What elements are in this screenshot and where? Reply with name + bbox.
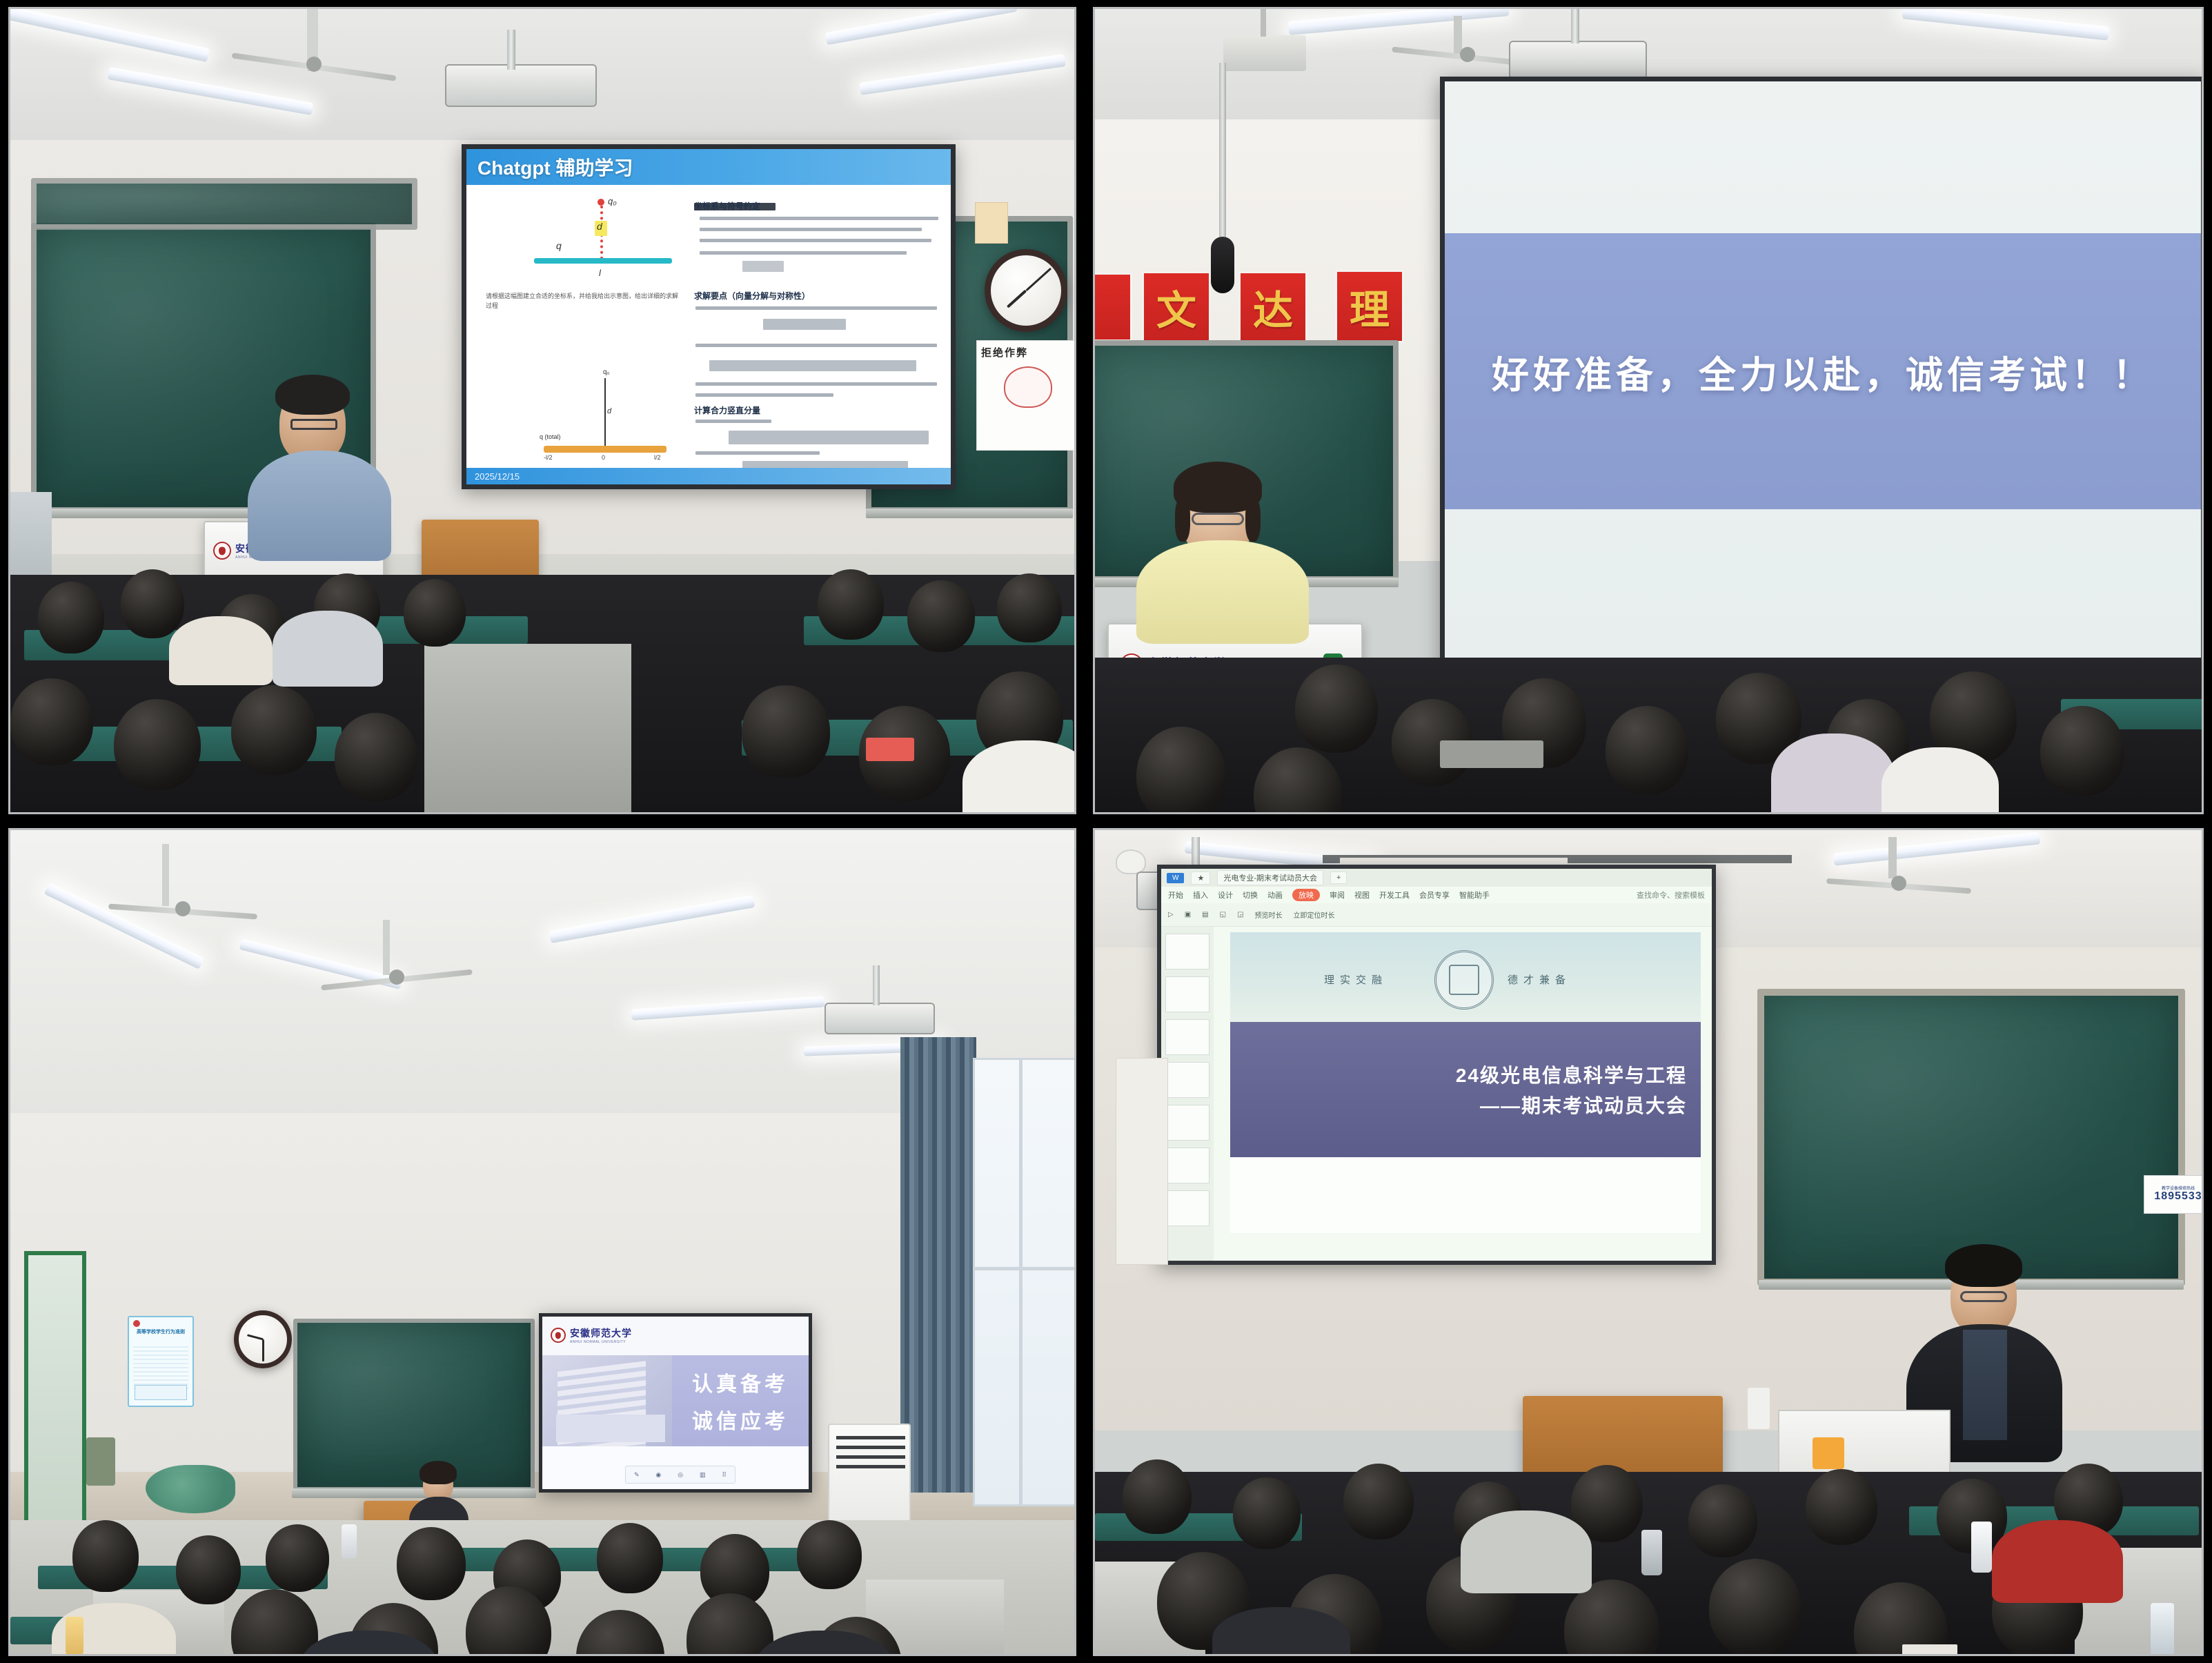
aisle-steps — [424, 644, 631, 814]
student-head — [1343, 1464, 1414, 1539]
slide-title: Chatgpt 辅助学习 — [466, 153, 633, 181]
slide-thumbnail[interactable] — [1165, 1019, 1209, 1055]
water-bottle — [2151, 1603, 2174, 1656]
thermos — [1641, 1530, 1662, 1575]
wps-new-tab-button[interactable]: + — [1330, 872, 1347, 884]
axis-tick-mid: 0 — [602, 454, 605, 461]
student-head — [121, 569, 184, 638]
projector — [445, 64, 597, 107]
photo-collage: 拒绝作弊 Chatgpt 辅助学习 q₀ d q l 请根据这幅图建立合适的坐标… — [0, 0, 2212, 1663]
grid-icon[interactable]: ⠿ — [722, 1471, 727, 1479]
student-conduct-poster: 高等学校学生行为准则 — [128, 1316, 194, 1407]
student-head — [266, 1524, 329, 1592]
rehearse-icon[interactable]: ◱ — [1220, 911, 1226, 918]
window — [973, 1058, 1076, 1506]
student-head — [10, 678, 93, 765]
lamp-rod — [1261, 9, 1266, 37]
blackboard — [293, 1319, 535, 1491]
wall-notice-board — [1116, 1058, 1168, 1265]
wall-note — [975, 202, 1008, 244]
wps-menu-item-8[interactable]: 开发工具 — [1379, 889, 1410, 901]
wall-mural — [146, 1465, 235, 1513]
student-head — [1688, 1484, 1757, 1557]
slide-thumbnail[interactable] — [1165, 1190, 1209, 1226]
slide-thumbnail[interactable] — [1165, 1105, 1209, 1141]
blackboard-upper-left — [31, 178, 417, 230]
poster-title: 高等学校学生行为准则 — [129, 1328, 192, 1335]
slide-heading-3: 计算合力竖直分量 — [694, 404, 760, 416]
wall-plant — [86, 1437, 115, 1486]
pen-icon[interactable]: ✎ — [634, 1471, 640, 1479]
slide-title-band: 24级光电信息科学与工程 ——期末考试动员大会 — [1230, 1022, 1701, 1157]
student-head — [597, 1523, 663, 1593]
play-from-start-icon[interactable]: ▷ — [1168, 911, 1174, 918]
wall-placard-2: 达 — [1238, 271, 1307, 343]
projection-screen-1: Chatgpt 辅助学习 q₀ d q l 请根据这幅图建立合适的坐标系，并给我… — [462, 144, 956, 489]
slogan-band: 好好准备，全力以赴，诚信考试！！ — [1445, 233, 2201, 509]
slide-thumbnail-pane[interactable] — [1161, 927, 1214, 1261]
student-head — [1709, 1559, 1801, 1656]
axis-vertical — [604, 378, 606, 447]
laptop — [1440, 740, 1543, 768]
wps-menu-item-0[interactable]: 开始 — [1168, 889, 1183, 901]
student-head — [907, 580, 975, 652]
slide-sky-banner: 理实交融 德才兼备 — [1230, 932, 1701, 1022]
slide-thumbnail[interactable] — [1165, 1062, 1209, 1098]
student-head — [397, 1527, 466, 1600]
projector-mount — [873, 965, 880, 1005]
wps-menu-item-5[interactable]: 放映 — [1292, 889, 1320, 901]
ceiling-fan — [314, 965, 480, 989]
slide-building-photo — [542, 1355, 672, 1446]
pointer-icon[interactable]: ◉ — [655, 1471, 661, 1479]
student-body-red-jacket — [1992, 1520, 2123, 1603]
student-body — [1771, 734, 1895, 814]
water-bottle — [1971, 1522, 1992, 1573]
projector-mount — [507, 30, 515, 70]
university-crest — [1434, 950, 1494, 1010]
slide-thumbnail[interactable] — [1165, 1148, 1209, 1183]
projector-mount — [1571, 9, 1579, 43]
student-head — [38, 582, 104, 653]
collage-cell-bottom-left: 高等学校学生行为准则 教学设备维修热线 18955330110 多媒体设备维修热… — [0, 821, 1085, 1663]
drink-cup — [66, 1617, 83, 1655]
teacher-sweater — [1963, 1330, 2007, 1440]
slides-icon[interactable]: ▥ — [700, 1471, 706, 1479]
wps-menu-item-2[interactable]: 设计 — [1218, 889, 1233, 901]
wall-clock — [234, 1310, 292, 1368]
photo-panel-2: 文 达 理 好好准备，全力以赴，诚信考试！！ 安徽师范大学 ANHUI NORM… — [1093, 7, 2204, 814]
student-head — [818, 569, 884, 640]
slide-motto-right: 德才兼备 — [1508, 972, 1571, 987]
slide-line-1: 认真备考 — [692, 1367, 789, 1397]
screen-slogan: 好好准备，全力以赴，诚信考试！！ — [1492, 344, 2154, 399]
charge-dot — [598, 199, 604, 206]
wall-poster: 拒绝作弊 — [976, 340, 1076, 451]
label-l: l — [599, 268, 601, 278]
wps-menu-item-4[interactable]: 动画 — [1267, 889, 1283, 901]
student-head — [1233, 1477, 1301, 1549]
surveillance-camera — [1116, 849, 1146, 874]
slide-logo-cn: 安徽师范大学 — [570, 1326, 632, 1340]
slide-title-line-1: 24级光电信息科学与工程 — [1456, 1061, 1687, 1088]
wps-menu-item-9[interactable]: 会员专享 — [1419, 889, 1450, 901]
slide-heading-2: 求解要点（向量分解与对称性） — [694, 290, 810, 302]
label-d: d — [597, 221, 602, 232]
student-head — [1806, 1469, 1877, 1545]
side-door-window — [24, 1251, 86, 1541]
wps-menu-item-1[interactable]: 插入 — [1193, 889, 1208, 901]
toolbar-value[interactable]: 立即定位时长 — [1294, 909, 1335, 920]
student-body — [273, 611, 383, 687]
student-head — [1123, 1459, 1192, 1534]
wall-placard-partial — [1093, 273, 1132, 342]
photo-panel-4: W ★ 光电专业-期末考试动员大会 + 开始 插入 设计 切换 动画 放映 审阅… — [1093, 828, 2204, 1656]
toolbar-label: 预览时长 — [1255, 909, 1283, 920]
student-head — [1136, 727, 1226, 814]
teacher-body-1 — [248, 451, 391, 561]
slide-footer: 2025/12/15 — [466, 468, 951, 484]
water-bottle — [342, 1524, 357, 1559]
warning-sign — [1813, 1437, 1844, 1469]
projector — [824, 1003, 935, 1034]
label-q0-b: q₀ — [603, 368, 610, 376]
slide-canvas: 理实交融 德才兼备 24级光电信息科学与工程 ——期末考试动员大会 — [1230, 932, 1701, 1233]
slide-thumbnail[interactable] — [1165, 976, 1209, 1012]
air-conditioner — [828, 1424, 911, 1534]
wps-menu-item-6[interactable]: 审阅 — [1330, 889, 1345, 901]
student-body — [1882, 747, 1999, 814]
student-head — [797, 1520, 862, 1589]
teacher-body-2 — [1136, 540, 1309, 644]
microphone-stand — [1219, 63, 1226, 249]
charged-rod — [534, 258, 672, 264]
slide-motto-left: 理实交融 — [1324, 972, 1388, 987]
red-notebook — [866, 738, 914, 761]
podium-box — [1748, 1388, 1770, 1429]
sticker-number: 1895533 — [2154, 1191, 2202, 1202]
wps-home-chip[interactable]: W — [1167, 873, 1184, 883]
wall-placard-3: 理 — [1335, 270, 1404, 343]
presenter-toolbar[interactable]: ✎ ◉ ◎ ▥ ⠿ — [625, 1466, 735, 1484]
wps-tab-strip: W ★ 光电专业-期末考试动员大会 + — [1161, 869, 1712, 887]
custom-show-icon[interactable]: ▣ — [1185, 911, 1191, 918]
slide-title-line-2: ——期末考试动员大会 — [1480, 1091, 1687, 1119]
collage-cell-top-right: 文 达 理 好好准备，全力以赴，诚信考试！！ 安徽师范大学 ANHUI NORM… — [1085, 0, 2212, 821]
student-body — [169, 616, 273, 685]
student-head — [72, 1520, 139, 1592]
record-icon[interactable]: ◲ — [1237, 911, 1243, 918]
student-head — [231, 685, 317, 775]
student-head — [176, 1535, 241, 1604]
projection-screen-3: 安徽师范大学 ANHUI NORMAL UNIVERSITY 认真备考 诚信应考… — [539, 1313, 812, 1493]
wall-poster-text: 拒绝作弊 — [977, 341, 1076, 364]
projected-wps-window: W ★ 光电专业-期末考试动员大会 + 开始 插入 设计 切换 动画 放映 审阅… — [1157, 865, 1716, 1265]
photo-panel-1: 拒绝作弊 Chatgpt 辅助学习 q₀ d q l 请根据这幅图建立合适的坐标… — [8, 7, 1076, 814]
wps-menu-item-10[interactable]: 智能助手 — [1459, 889, 1490, 901]
wps-search-box[interactable]: 查找命令、搜索模板 — [1637, 889, 1712, 901]
prompt-text: 请根据这幅图建立合适的坐标系，并给我给出示意图，给出详细的求解过程 — [486, 291, 679, 311]
projector — [1509, 41, 1647, 79]
student-head — [335, 713, 417, 801]
axis-tick-right: l/2 — [654, 454, 661, 461]
slide-slogan-panel: 认真备考 诚信应考 — [672, 1355, 809, 1446]
student-head — [2040, 706, 2124, 796]
student-head — [114, 699, 201, 790]
slide-title-bar: Chatgpt 辅助学习 — [466, 149, 951, 185]
microphone — [1211, 237, 1234, 293]
ceiling-fan — [217, 50, 411, 78]
projection-screen-2: 好好准备，全力以赴，诚信考试！！ — [1440, 77, 2204, 696]
wps-tab-recent[interactable]: ★ — [1191, 872, 1210, 885]
window-curtain — [900, 1037, 976, 1493]
wps-menu-item-3[interactable]: 切换 — [1243, 889, 1258, 901]
slide-line-2: 诚信应考 — [692, 1404, 789, 1435]
blackboard-right — [1757, 989, 2185, 1286]
wps-toolbar[interactable]: ▷ ▣ ▤ ◱ ◲ 预览时长 立即定位时长 — [1161, 903, 1712, 927]
charged-rod-b — [544, 446, 666, 453]
label-q0: q₀ — [608, 196, 617, 206]
collage-cell-bottom-right: W ★ 光电专业-期末考试动员大会 + 开始 插入 设计 切换 动画 放映 审阅… — [1085, 821, 2212, 1663]
slide-header: 安徽师范大学 ANHUI NORMAL UNIVERSITY — [542, 1317, 809, 1355]
laser-icon[interactable]: ◎ — [678, 1471, 683, 1479]
photo-panel-3: 高等学校学生行为准则 教学设备维修热线 18955330110 多媒体设备维修热… — [8, 828, 1076, 1656]
student-head — [742, 685, 830, 778]
student-head — [1606, 706, 1688, 794]
slide-heading-1: 坐标系与符号约定 — [694, 200, 760, 212]
axis-tick-left: -l/2 — [544, 454, 553, 461]
repair-hotline-sticker: 教学设备维修热线 1895533 — [2144, 1175, 2204, 1214]
student-body — [1461, 1511, 1592, 1593]
presenter-view-icon[interactable]: ▤ — [1202, 911, 1208, 918]
wall-clock — [985, 249, 1067, 332]
ceiling-fan — [1819, 872, 1978, 895]
label-d-b: d — [607, 407, 611, 415]
student-notebook — [1902, 1644, 1957, 1656]
ceiling-fan — [100, 896, 266, 921]
slide-logo-en: ANHUI NORMAL UNIVERSITY — [570, 1340, 632, 1344]
slide-thumbnail[interactable] — [1165, 934, 1209, 970]
slide-date: 2025/12/15 — [475, 471, 520, 482]
wps-ribbon-menu[interactable]: 开始 插入 设计 切换 动画 放映 审阅 视图 开发工具 会员专享 智能助手 查… — [1161, 887, 1712, 903]
student-head — [1295, 665, 1378, 753]
collage-cell-top-left: 拒绝作弊 Chatgpt 辅助学习 q₀ d q l 请根据这幅图建立合适的坐标… — [0, 0, 1085, 821]
hanging-lamp — [1223, 35, 1306, 71]
label-q-total: q (total) — [540, 433, 561, 440]
wps-tab-document[interactable]: 光电专业-期末考试动员大会 — [1217, 870, 1323, 885]
wps-menu-item-7[interactable]: 视图 — [1354, 889, 1370, 901]
student-head — [997, 573, 1062, 642]
wall-placard-1: 文 — [1142, 271, 1211, 343]
student-head — [404, 579, 466, 647]
label-q: q — [556, 240, 562, 251]
